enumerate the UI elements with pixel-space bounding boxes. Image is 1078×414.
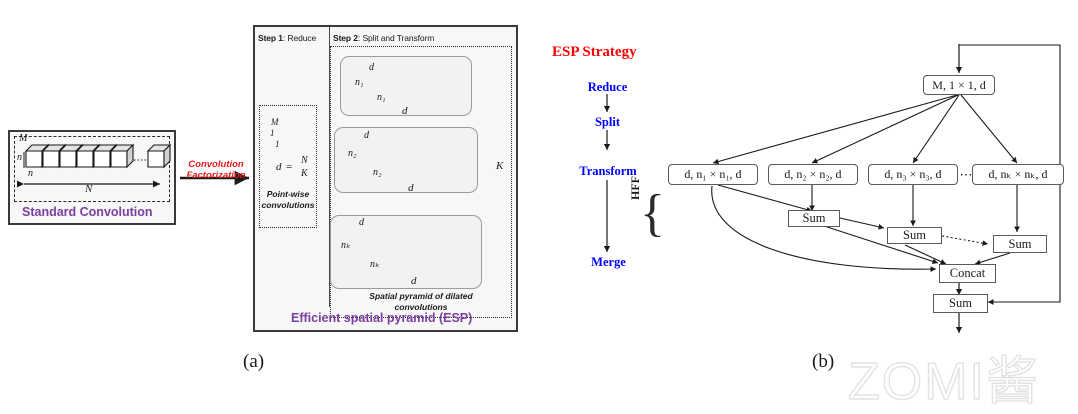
pointwise-caption-line1: Point-wise [267,189,310,199]
figure-root: M n n N Standard Convolution Convolution… [0,0,1078,401]
node-transform-3[interactable]: d, n₃ × n₃, d [868,164,958,185]
branch1-label-height: n₁ [355,77,363,88]
step1-formula-numerator: N [301,155,308,166]
step2-title: Step 2: Split and Transform [333,33,434,43]
standard-conv-label-n-bottom: n [28,168,33,179]
node-sum-3[interactable]: Sum [993,235,1047,253]
branch-box-2 [334,127,478,193]
branch-box-K [330,215,482,289]
node-sum-2[interactable]: Sum [887,227,942,244]
stage-reduce: Reduce [580,80,635,95]
step1-label-1-bottom: 1 [275,139,280,149]
branch1-label-width: n₁ [377,92,385,103]
node-transform-K[interactable]: d, nₖ × nₖ, d [972,164,1064,185]
branch2-label-width: n₂ [373,167,381,178]
node-final-sum[interactable]: Sum [933,294,988,313]
step1-title-bold: Step 1 [258,33,283,43]
conv-factorization-line1: Convolution [188,159,243,170]
convolution-factorization-label: Convolution Factorization [179,160,253,182]
stage-merge: Merge [580,255,637,270]
pointwise-caption: Point-wise convolutions [259,189,317,212]
panel-a-vector-layer [0,0,1078,401]
node-sum-1[interactable]: Sum [788,210,840,227]
step1-label-1-left: 1 [270,128,275,138]
step2-title-rest: : Split and Transform [358,33,434,43]
standard-conv-label-n-left: n [17,152,22,163]
standard-conv-label-N: N [85,183,92,195]
conv-factorization-line2: Factorization [186,170,245,181]
esp-label: Efficient spatial pyramid (ESP) [291,311,472,325]
node-reduce[interactable]: M, 1 × 1, d [923,75,995,95]
standard-conv-label-M: M [19,133,27,144]
branchK-label-width: nₖ [370,259,379,270]
transform-ellipsis: ⋯ [958,167,974,183]
spatial-pyramid-caption-line1: Spatial pyramid of dilated [369,291,472,301]
step1-title: Step 1: Reduce [258,33,316,43]
branchK-label-depth: d [359,217,364,228]
K-label: K [496,160,503,172]
standard-conv-cubes [26,145,170,167]
branch1-label-span: d [402,105,408,117]
hff-brace: { [640,188,665,240]
caption-a: (a) [243,351,264,373]
branchK-label-span: d [411,275,417,287]
node-concat[interactable]: Concat [939,264,996,283]
step1-formula-equals: = [286,161,292,173]
branch2-label-height: n₂ [348,148,356,159]
branch2-label-depth: d [364,130,369,141]
step1-formula-d: d [276,161,282,173]
step1-formula-denominator: K [301,168,308,179]
stage-split: Split [584,115,631,130]
branch1-label-depth: d [369,62,374,73]
pointwise-caption-line2: convolutions [262,200,315,210]
standard-convolution-label: Standard Convolution [22,205,153,219]
step1-label-M: M [271,117,279,127]
branch2-label-span: d [408,182,414,194]
caption-b: (b) [812,351,834,373]
step2-title-bold: Step 2 [333,33,358,43]
node-transform-2[interactable]: d, n₂ × n₂, d [768,164,858,185]
step1-title-rest: : Reduce [283,33,316,43]
esp-strategy-title: ESP Strategy [552,44,637,61]
branchK-label-height: nₖ [341,240,350,251]
node-transform-1[interactable]: d, n₁ × n₁, d [668,164,758,185]
